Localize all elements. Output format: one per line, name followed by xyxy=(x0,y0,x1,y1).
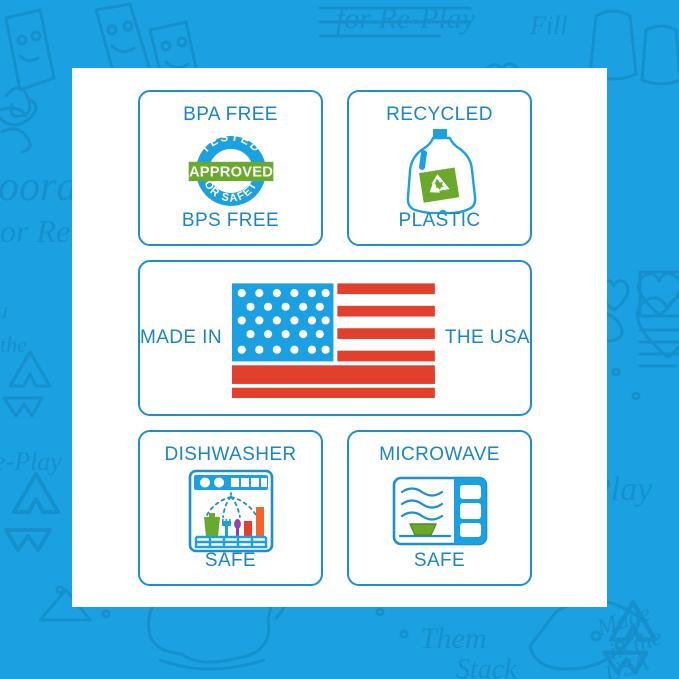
recycled-jug-icon xyxy=(400,128,480,214)
dishwasher-icon-wrap xyxy=(140,476,321,546)
microwave-safe-text: SAFE xyxy=(349,550,530,572)
svg-text:Fill: Fill xyxy=(529,11,568,40)
panel-bpa-free: BPA FREE TESTED FOR SAFETY APPROVED BPS … xyxy=(138,90,323,246)
dishwasher-safe-text: SAFE xyxy=(140,550,321,572)
microwave-icon xyxy=(392,474,488,548)
bpa-free-title: BPA FREE xyxy=(140,104,321,126)
svg-text:or Re: or Re xyxy=(0,213,70,249)
dishwasher-icon xyxy=(188,469,274,553)
svg-text:Them: Them xyxy=(420,622,487,655)
usa-flag-icon xyxy=(232,278,435,398)
bps-free-title: BPS FREE xyxy=(140,210,321,232)
the-usa-text: THE USA xyxy=(445,327,530,349)
microwave-title: MICROWAVE xyxy=(349,444,530,466)
svg-text:the: the xyxy=(0,332,27,357)
approved-seal-icon: TESTED FOR SAFETY APPROVED xyxy=(185,125,277,217)
seal-banner-text: APPROVED xyxy=(188,165,272,181)
panel-microwave-safe: MICROWAVE SAFE xyxy=(347,430,532,586)
panel-made-in-usa: MADE IN xyxy=(138,260,532,416)
panel-recycled-plastic: RECYCLED PLASTIC xyxy=(347,90,532,246)
svg-text:e-Play: e-Play xyxy=(0,447,62,476)
panel-dishwasher-safe: DISHWASHER xyxy=(138,430,323,586)
made-in-text: MADE IN xyxy=(140,327,222,349)
dishwasher-title: DISHWASHER xyxy=(140,444,321,466)
microwave-icon-wrap xyxy=(349,476,530,546)
recycled-jug-icon-wrap xyxy=(349,136,530,206)
feature-card: BPA FREE TESTED FOR SAFETY APPROVED BPS … xyxy=(72,68,607,607)
svg-text:Stack: Stack xyxy=(456,654,517,679)
recycled-title: RECYCLED xyxy=(349,104,530,126)
svg-text:u: u xyxy=(0,298,8,324)
svg-text:for Re-Play: for Re-Play xyxy=(336,2,476,35)
approved-seal-icon-wrap: TESTED FOR SAFETY APPROVED xyxy=(140,136,321,206)
plastic-title: PLASTIC xyxy=(349,210,530,232)
